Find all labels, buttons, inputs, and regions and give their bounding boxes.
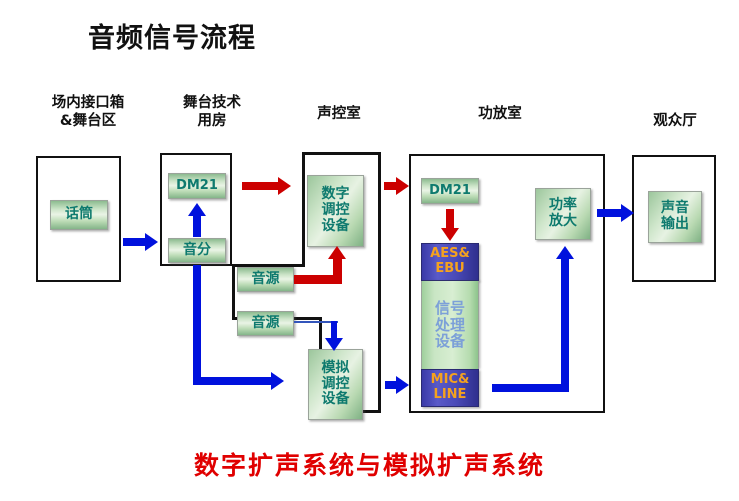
equipment-signal-processor-line1: 信号 [435,300,465,317]
equipment-signal-processor-line3: 设备 [435,333,465,350]
equipment-signal-processor[interactable]: 信号 处理 设备 [421,281,479,369]
equipment-source-digital[interactable]: 音源 [237,267,294,292]
equipment-sound-output[interactable]: 声音 输出 [648,191,702,243]
equipment-mic-line[interactable]: MIC& LINE [421,369,479,407]
equipment-source-analog-label: 音源 [252,316,280,332]
equipment-dm21-stage[interactable]: DM21 [168,173,226,199]
zone-header-line1: 场内接口箱 [24,94,152,112]
equipment-audio-splitter-label: 音分 [183,243,211,259]
equipment-digital-console[interactable]: 数字 调控 设备 [307,175,364,247]
page-title: 音频信号流程 [88,16,256,55]
zone-header-line1: 功放室 [430,105,570,123]
zone-header-field-interface: 场内接口箱 &舞台区 [24,94,152,130]
zone-header-line1: 舞台技术 [160,94,264,112]
zone-header-line1: 声控室 [294,105,384,123]
equipment-microphone-label: 话筒 [65,207,93,223]
equipment-dm21-amp-label: DM21 [429,184,471,199]
equipment-digital-console-line2: 调控 [322,203,350,219]
equipment-analog-console-line2: 调控 [322,377,350,393]
diagram-canvas: 音频信号流程 数字扩声系统与模拟扩声系统 场内接口箱 &舞台区 舞台技术 用房 … [0,0,739,501]
equipment-microphone[interactable]: 话筒 [50,200,108,230]
equipment-sound-output-line1: 声音 [661,201,689,217]
zone-header-stage-tech-room: 舞台技术 用房 [160,94,264,130]
zone-header-line1: 观众厅 [620,112,730,130]
equipment-mic-line-line2: LINE [434,388,467,403]
equipment-aes-ebu-line2: EBU [435,262,464,277]
zone-header-line2: &舞台区 [24,112,152,130]
equipment-dm21-stage-label: DM21 [176,179,218,194]
equipment-source-analog[interactable]: 音源 [237,311,294,336]
equipment-power-amplifier-line1: 功率 [549,198,577,214]
equipment-power-amplifier[interactable]: 功率 放大 [535,188,591,240]
equipment-aes-ebu[interactable]: AES& EBU [421,243,479,281]
zone-header-sound-control-room: 声控室 [294,105,384,123]
equipment-source-digital-label: 音源 [252,272,280,288]
equipment-sound-output-line2: 输出 [661,217,689,233]
equipment-aes-ebu-line1: AES& [430,247,470,262]
equipment-analog-console-line1: 模拟 [322,361,350,377]
equipment-digital-console-line3: 设备 [322,219,350,235]
equipment-audio-splitter[interactable]: 音分 [168,238,226,263]
zone-header-audience-hall: 观众厅 [620,112,730,130]
zone-header-line2: 用房 [160,112,264,130]
equipment-mic-line-line1: MIC& [431,373,470,388]
equipment-analog-console-line3: 设备 [322,392,350,408]
equipment-signal-processor-line2: 处理 [435,317,465,334]
equipment-analog-console[interactable]: 模拟 调控 设备 [308,349,363,420]
equipment-power-amplifier-line2: 放大 [549,214,577,230]
equipment-digital-console-line1: 数字 [322,187,350,203]
equipment-dm21-amp[interactable]: DM21 [421,178,479,204]
zone-header-amplifier-room: 功放室 [430,105,570,123]
footer-title: 数字扩声系统与模拟扩声系统 [0,446,739,482]
